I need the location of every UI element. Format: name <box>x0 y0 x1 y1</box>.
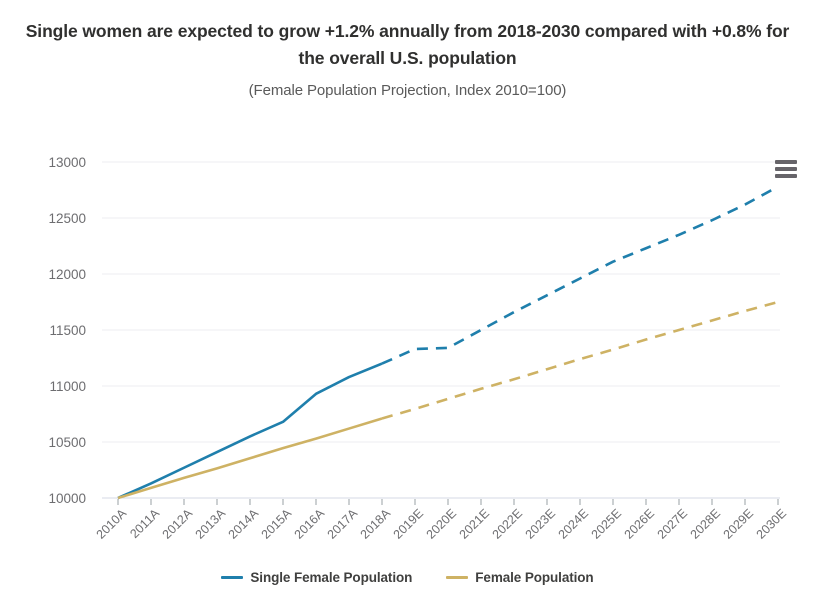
x-axis-tick-label: 2018A <box>358 506 394 542</box>
x-axis-tick-label: 2026E <box>622 506 657 541</box>
y-axis-tick-label: 12500 <box>48 211 86 226</box>
x-axis-line <box>102 498 780 505</box>
x-axis-tick-label: 2030E <box>754 506 789 541</box>
hamburger-bar-3 <box>775 174 797 178</box>
y-axis-tick-label: 13000 <box>48 155 86 170</box>
title-block: Single women are expected to grow +1.2% … <box>0 0 815 99</box>
chart-legend: Single Female Population Female Populati… <box>0 570 815 585</box>
legend-swatch-female-population <box>446 576 468 579</box>
chart-plot-area: 10000105001100011500120001250013000 2010… <box>0 130 815 560</box>
x-axis-tick-label: 2025E <box>589 506 624 541</box>
hamburger-menu-icon[interactable] <box>775 160 797 178</box>
x-axis-tick-label: 2023E <box>523 506 558 541</box>
x-axis-tick-label: 2024E <box>556 506 591 541</box>
x-axis-tick-labels: 2010A2011A2012A2013A2014A2015A2016A2017A… <box>94 506 789 542</box>
x-axis-tick-label: 2019E <box>391 506 426 541</box>
x-axis-tick-label: 2013A <box>193 506 229 542</box>
chart-subtitle: (Female Population Projection, Index 201… <box>0 82 815 99</box>
series-line-dashed <box>382 187 778 364</box>
data-series-lines <box>118 187 778 498</box>
legend-label-single-female-population: Single Female Population <box>250 570 412 585</box>
x-axis-tick-label: 2027E <box>655 506 690 541</box>
x-axis-tick-label: 2022E <box>490 506 525 541</box>
y-axis-tick-label: 12000 <box>48 267 86 282</box>
hamburger-bar-2 <box>775 167 797 171</box>
legend-label-female-population: Female Population <box>475 570 593 585</box>
x-axis-tick-label: 2015A <box>259 506 295 542</box>
x-axis-tick-label: 2012A <box>160 506 196 542</box>
hamburger-bar-1 <box>775 160 797 164</box>
y-axis-tick-labels: 10000105001100011500120001250013000 <box>48 155 86 506</box>
y-axis-tick-label: 11500 <box>49 323 86 338</box>
x-axis-tick-label: 2014A <box>226 506 262 542</box>
page-title: Single women are expected to grow +1.2% … <box>23 18 793 72</box>
series-line-dashed <box>382 302 778 418</box>
y-axis-tick-label: 10500 <box>48 435 86 450</box>
y-axis-tick-label: 11000 <box>49 379 86 394</box>
line-chart-svg: 10000105001100011500120001250013000 2010… <box>0 130 815 560</box>
x-axis-tick-label: 2016A <box>292 506 328 542</box>
series-line-solid <box>118 418 382 498</box>
x-axis-tick-label: 2021E <box>457 506 492 541</box>
x-axis-tick-label: 2029E <box>721 506 756 541</box>
legend-item-female-population[interactable]: Female Population <box>446 570 593 585</box>
x-axis-tick-label: 2020E <box>424 506 459 541</box>
legend-swatch-single-female-population <box>221 576 243 579</box>
legend-item-single-female-population[interactable]: Single Female Population <box>221 570 412 585</box>
x-axis-tick-label: 2010A <box>94 506 130 542</box>
x-axis-tick-label: 2011A <box>127 506 162 541</box>
x-axis-tick-label: 2028E <box>688 506 723 541</box>
y-axis-tick-label: 10000 <box>48 491 86 506</box>
x-axis-tick-label: 2017A <box>325 506 361 542</box>
